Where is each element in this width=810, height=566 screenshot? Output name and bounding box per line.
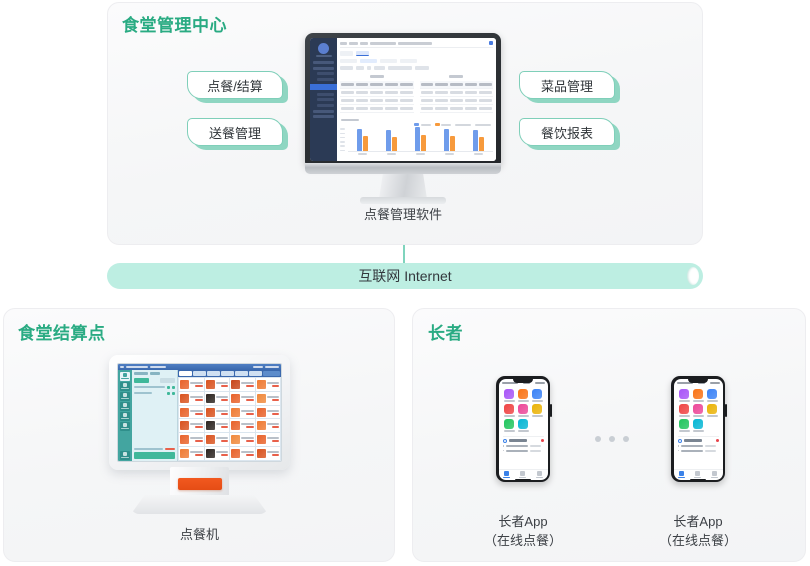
dish-thumbnail: [180, 435, 189, 444]
dish-meta: [216, 451, 229, 456]
dish-thumbnail: [231, 408, 240, 417]
filter-field: [374, 66, 385, 70]
dish-meta: [267, 382, 280, 387]
bar-group: [444, 129, 456, 151]
dish-name: [267, 396, 280, 398]
tab-label: [536, 477, 543, 479]
top-panel-title: 食堂管理中心: [122, 11, 227, 36]
phone-illustration-1: [496, 376, 550, 482]
pos-sidebar-icon-order: [120, 372, 130, 381]
notice-title: [684, 439, 702, 442]
table-cell: [465, 91, 478, 94]
dish-name: [216, 423, 229, 425]
table-row: [340, 89, 414, 97]
order-action-secondary: [160, 378, 175, 383]
breadcrumb-segment: [370, 42, 396, 45]
title-segment: [126, 366, 148, 368]
avatar: [489, 41, 493, 45]
dish-thumbnail: [180, 449, 189, 458]
table-cell: [435, 107, 448, 110]
dish-meta: [216, 396, 229, 401]
dish-name: [216, 396, 229, 398]
dish-name: [216, 382, 229, 384]
order-item-increase: [172, 392, 175, 395]
notice-item: [678, 450, 719, 452]
app-label: [679, 415, 690, 417]
table-cell: [450, 107, 463, 110]
category-tab: [249, 371, 262, 376]
bar: [363, 136, 368, 151]
bar: [421, 135, 426, 151]
phone-app-item: [692, 419, 705, 432]
dish-name: [267, 451, 280, 453]
dashboard-tables: [340, 75, 493, 113]
pos-dish-cell: [205, 406, 230, 419]
pos-order-actions: [134, 378, 175, 383]
table-header-cell: [479, 83, 492, 86]
breadcrumb-segment: [360, 42, 368, 45]
pos-search-input: [263, 371, 280, 376]
dish-price: [246, 454, 254, 456]
pos-dish-cell: [230, 406, 255, 419]
table-header-cell: [356, 83, 369, 86]
pos-order-panel: [132, 370, 178, 461]
app-icon: [693, 389, 703, 399]
data-table-left: [340, 75, 414, 113]
dish-name: [190, 437, 203, 439]
dish-price: [272, 440, 280, 442]
notice-item: [503, 445, 544, 447]
dish-name: [241, 382, 254, 384]
phone-tab-order: [519, 471, 526, 479]
home-icon: [504, 471, 509, 476]
phone-app-item: [678, 419, 691, 432]
app-label: [707, 400, 718, 402]
sidebar-subitem: [317, 93, 334, 96]
table-row: [340, 97, 414, 105]
phone-app-item: [531, 389, 544, 402]
dish-thumbnail: [206, 421, 215, 430]
dish-thumbnail: [206, 408, 215, 417]
phone-body: [496, 376, 550, 482]
monitor-chin: [305, 163, 501, 174]
app-label: [504, 430, 515, 432]
pos-dish-cell: [205, 378, 230, 391]
internet-connector-line: [403, 245, 405, 263]
chart-legend: [340, 123, 491, 126]
notice-date: [530, 450, 541, 452]
notice-item: [503, 450, 544, 452]
phone-tab-home: [678, 471, 685, 479]
table-cell: [341, 99, 354, 102]
dish-price: [195, 399, 203, 401]
dish-thumbnail: [206, 449, 215, 458]
app-icon: [679, 419, 689, 429]
app-icon: [693, 419, 703, 429]
pos-order-header: [134, 372, 175, 375]
table-cell: [479, 91, 492, 94]
bullet-icon: [503, 445, 505, 447]
category-tab: [221, 371, 234, 376]
pos-screen: [117, 363, 282, 462]
table-header-row: [340, 81, 414, 89]
dish-name: [267, 382, 280, 384]
table-cell: [370, 107, 383, 110]
chart-x-axis: [348, 152, 493, 158]
table-cell: [400, 107, 413, 110]
table-header-cell: [400, 83, 413, 86]
pos-terminal-illustration: [106, 355, 293, 515]
pos-dish-cell: [256, 378, 281, 391]
y-tick: [340, 145, 345, 147]
status-bar-text: [710, 382, 720, 384]
app-icon: [518, 389, 528, 399]
dish-meta: [267, 423, 280, 428]
dot: [623, 436, 629, 442]
app-label: [504, 415, 515, 417]
monitor-bezel: [305, 33, 501, 165]
tag-button-label: 餐饮报表: [519, 118, 615, 146]
order-item-decrease: [167, 392, 170, 395]
y-tick: [340, 150, 345, 152]
category-tab: [235, 371, 248, 376]
dashboard-main: [337, 38, 496, 161]
sidebar-item: [313, 115, 334, 118]
sidebar-subitem: [317, 72, 334, 75]
pos-dish-cell: [256, 433, 281, 446]
phone-tab-order: [694, 471, 701, 479]
pos-dish-grid: [178, 377, 281, 461]
sidebar-subitem: [317, 98, 334, 101]
right-panel-title: 长者: [428, 319, 463, 344]
app-icon: [707, 389, 717, 399]
pos-category-tabs: [178, 370, 281, 377]
pos-dish-cell: [205, 447, 230, 460]
table-cell: [450, 99, 463, 102]
phone-notice-section: [503, 436, 544, 452]
dish-thumbnail: [257, 421, 266, 430]
bar: [473, 130, 478, 151]
dish-thumbnail: [206, 380, 215, 389]
dish-price: [272, 399, 280, 401]
pos-dish-cell: [256, 406, 281, 419]
tag-button-catering-report[interactable]: 餐饮报表: [519, 118, 615, 146]
monitor-stand-base: [360, 197, 446, 204]
table-header-cell: [370, 83, 383, 86]
dish-name: [190, 423, 203, 425]
phone-tab-home: [503, 471, 510, 479]
notice-badge: [541, 439, 544, 442]
notice-title: [509, 439, 527, 442]
table-header-cell: [385, 83, 398, 86]
app-icon: [518, 404, 528, 414]
dish-name: [190, 410, 203, 412]
dish-thumbnail: [231, 380, 240, 389]
phone-tab-profile: [536, 471, 543, 479]
table-cell: [421, 107, 434, 110]
filter-field: [356, 66, 364, 70]
order-action-primary: [134, 378, 149, 383]
bar: [450, 136, 455, 151]
notice-date: [705, 445, 716, 447]
dish-price: [195, 440, 203, 442]
notice-date: [530, 445, 541, 447]
notice-icon: [678, 439, 682, 443]
order-header-text: [150, 372, 160, 375]
dashboard-tabs: [340, 51, 493, 56]
pos-order-item: [134, 392, 175, 395]
phone-home-indicator: [515, 479, 531, 481]
dish-meta: [190, 437, 203, 442]
app-label: [504, 400, 515, 402]
table-row: [340, 105, 414, 113]
pos-checkout-button: [134, 452, 175, 459]
table-cell: [400, 99, 413, 102]
table-row: [420, 89, 494, 97]
table-cell: [341, 107, 354, 110]
filter-field: [367, 66, 371, 70]
sidebar-subitem: [317, 78, 334, 81]
y-tick: [340, 133, 345, 135]
phone-app-item: [706, 404, 719, 417]
pos-stand-base: [131, 495, 268, 514]
table-cell: [479, 99, 492, 102]
dish-name: [267, 437, 280, 439]
app-icon: [679, 389, 689, 399]
phone-app-item: [503, 419, 516, 432]
table-cell: [400, 91, 413, 94]
profile-icon: [537, 471, 542, 476]
bar-group: [357, 129, 369, 151]
dish-price: [221, 399, 229, 401]
bar: [386, 130, 391, 151]
app-icon: [504, 419, 514, 429]
phone-tab-bar: [499, 469, 548, 480]
dish-meta: [190, 451, 203, 456]
phone-caption-2: 长者App （在线点餐）: [638, 512, 758, 550]
dish-name: [190, 382, 203, 384]
dish-meta: [216, 423, 229, 428]
phone-app-item: [678, 389, 691, 402]
phone-tab-profile: [711, 471, 718, 479]
pos-dish-cell: [179, 433, 204, 446]
dish-price: [272, 385, 280, 387]
table-cell: [435, 91, 448, 94]
dish-meta: [216, 382, 229, 387]
phone-home-indicator: [690, 479, 706, 481]
chart-title: [341, 119, 359, 122]
monitor-stand-neck: [379, 174, 427, 199]
pos-order-item: [134, 386, 175, 389]
pos-dish-cell: [256, 419, 281, 432]
pos-dish-cell: [256, 447, 281, 460]
dashboard-filter-row: [340, 66, 493, 70]
tag-button-dish-management[interactable]: 菜品管理: [519, 71, 615, 99]
notice-date: [705, 450, 716, 452]
legend-item-blue: [414, 123, 431, 126]
table-cell: [370, 99, 383, 102]
dot: [609, 436, 615, 442]
dish-name: [267, 423, 280, 425]
tag-button-delivery-management[interactable]: 送餐管理: [187, 118, 283, 146]
dish-thumbnail: [257, 394, 266, 403]
dish-name: [241, 410, 254, 412]
bar-group: [473, 130, 485, 151]
pos-dish-cell: [179, 406, 204, 419]
app-label: [679, 400, 690, 402]
app-icon: [532, 404, 542, 414]
pos-dish-cell: [205, 433, 230, 446]
dashboard-breadcrumb-bar: [340, 41, 493, 48]
phone-app-item: [517, 419, 530, 432]
pos-dish-cell: [230, 433, 255, 446]
pos-dish-cell: [230, 419, 255, 432]
phone-caption-line2: （在线点餐）: [463, 531, 583, 550]
app-label: [707, 415, 718, 417]
legend-item-orange: [435, 123, 452, 126]
dish-name: [216, 410, 229, 412]
phone-caption-line1: 长者App: [463, 512, 583, 531]
chip: [400, 59, 417, 64]
chart-plot-area: [348, 127, 493, 152]
category-tab: [207, 371, 220, 376]
dish-name: [241, 423, 254, 425]
pos-dish-panel: [178, 370, 281, 461]
pos-body: [118, 370, 281, 461]
table-header-cell: [450, 83, 463, 86]
order-item-name: [134, 392, 152, 395]
dish-price: [221, 454, 229, 456]
dish-meta: [267, 396, 280, 401]
table-header-cell: [341, 83, 354, 86]
ellipsis-dots: [595, 436, 629, 442]
pos-dish-cell: [179, 378, 204, 391]
phone-app-item: [503, 389, 516, 402]
dish-meta: [241, 382, 254, 387]
phone-app-item: [503, 404, 516, 417]
table-cell: [421, 91, 434, 94]
notice-icon: [503, 439, 507, 443]
app-icon: [504, 404, 514, 414]
dish-price: [272, 426, 280, 428]
notice-text: [506, 450, 528, 452]
table-caption: [370, 75, 384, 78]
left-panel-title: 食堂结算点: [18, 319, 106, 344]
notice-text: [681, 450, 703, 452]
dish-thumbnail: [180, 408, 189, 417]
title-segment: [253, 366, 263, 368]
app-label: [693, 430, 704, 432]
tab-label: [711, 477, 718, 479]
dish-meta: [267, 437, 280, 442]
notice-item: [678, 445, 719, 447]
phone-app-item: [692, 389, 705, 402]
filter-field: [388, 66, 412, 70]
phone-side-button: [550, 404, 552, 417]
bar: [357, 129, 362, 151]
dish-meta: [216, 410, 229, 415]
pos-icon-sidebar: [118, 370, 132, 461]
dish-price: [221, 440, 229, 442]
table-row: [420, 97, 494, 105]
tag-button-order-settlement[interactable]: 点餐/结算: [187, 71, 283, 99]
table-cell: [450, 91, 463, 94]
table-cell: [465, 107, 478, 110]
breadcrumb-segment: [340, 42, 347, 45]
app-label: [518, 415, 529, 417]
filter-field: [415, 66, 429, 70]
dish-meta: [190, 382, 203, 387]
dish-thumbnail: [257, 380, 266, 389]
dish-meta: [241, 396, 254, 401]
notice-text: [506, 445, 528, 447]
dish-price: [272, 413, 280, 415]
bar: [479, 137, 484, 151]
bar-group: [415, 127, 427, 151]
x-tick-label: [387, 153, 396, 155]
dot: [595, 436, 601, 442]
sidebar-item-active: [310, 84, 337, 90]
phone-screen: [674, 379, 723, 480]
dish-meta: [190, 423, 203, 428]
pos-stand-accent-bar: [178, 478, 222, 490]
pos-dish-cell: [179, 392, 204, 405]
dish-meta: [241, 410, 254, 415]
filter-field: [340, 66, 353, 70]
order-item-name: [134, 386, 165, 389]
dish-price: [221, 413, 229, 415]
app-icon: [504, 389, 514, 399]
table-header-cell: [435, 83, 448, 86]
dish-thumbnail: [231, 421, 240, 430]
dish-thumbnail: [180, 380, 189, 389]
pos-dish-cell: [205, 419, 230, 432]
phone-caption-1: 长者App （在线点餐）: [463, 512, 583, 550]
sidebar-subitem: [317, 104, 334, 107]
dish-thumbnail: [257, 408, 266, 417]
sidebar-item: [313, 61, 334, 64]
pos-sidebar-icon-menu: [120, 382, 130, 391]
dish-price: [195, 413, 203, 415]
phone-app-item: [706, 389, 719, 402]
dish-thumbnail: [231, 394, 240, 403]
category-tab: [193, 371, 206, 376]
app-icon: [707, 404, 717, 414]
table-cell: [421, 99, 434, 102]
x-tick-label: [474, 153, 483, 155]
notice-header: [503, 439, 544, 443]
app-label: [532, 415, 543, 417]
app-label: [518, 400, 529, 402]
app-icon: [518, 419, 528, 429]
pos-sidebar-icon-member: [120, 392, 130, 401]
y-tick: [340, 141, 345, 143]
pipe-end-cap-icon: [687, 267, 699, 285]
table-cell: [356, 99, 369, 102]
dish-thumbnail: [257, 435, 266, 444]
dish-thumbnail: [206, 435, 215, 444]
table-header-row: [420, 81, 494, 89]
order-item-increase: [172, 386, 175, 389]
pos-dish-cell: [230, 378, 255, 391]
dish-name: [241, 437, 254, 439]
window-controls: [265, 366, 279, 368]
y-tick: [340, 128, 345, 130]
pos-caption: 点餐机: [106, 524, 293, 543]
pos-sidebar-icon-report: [120, 412, 130, 421]
table-cell: [356, 107, 369, 110]
dish-meta: [241, 437, 254, 442]
